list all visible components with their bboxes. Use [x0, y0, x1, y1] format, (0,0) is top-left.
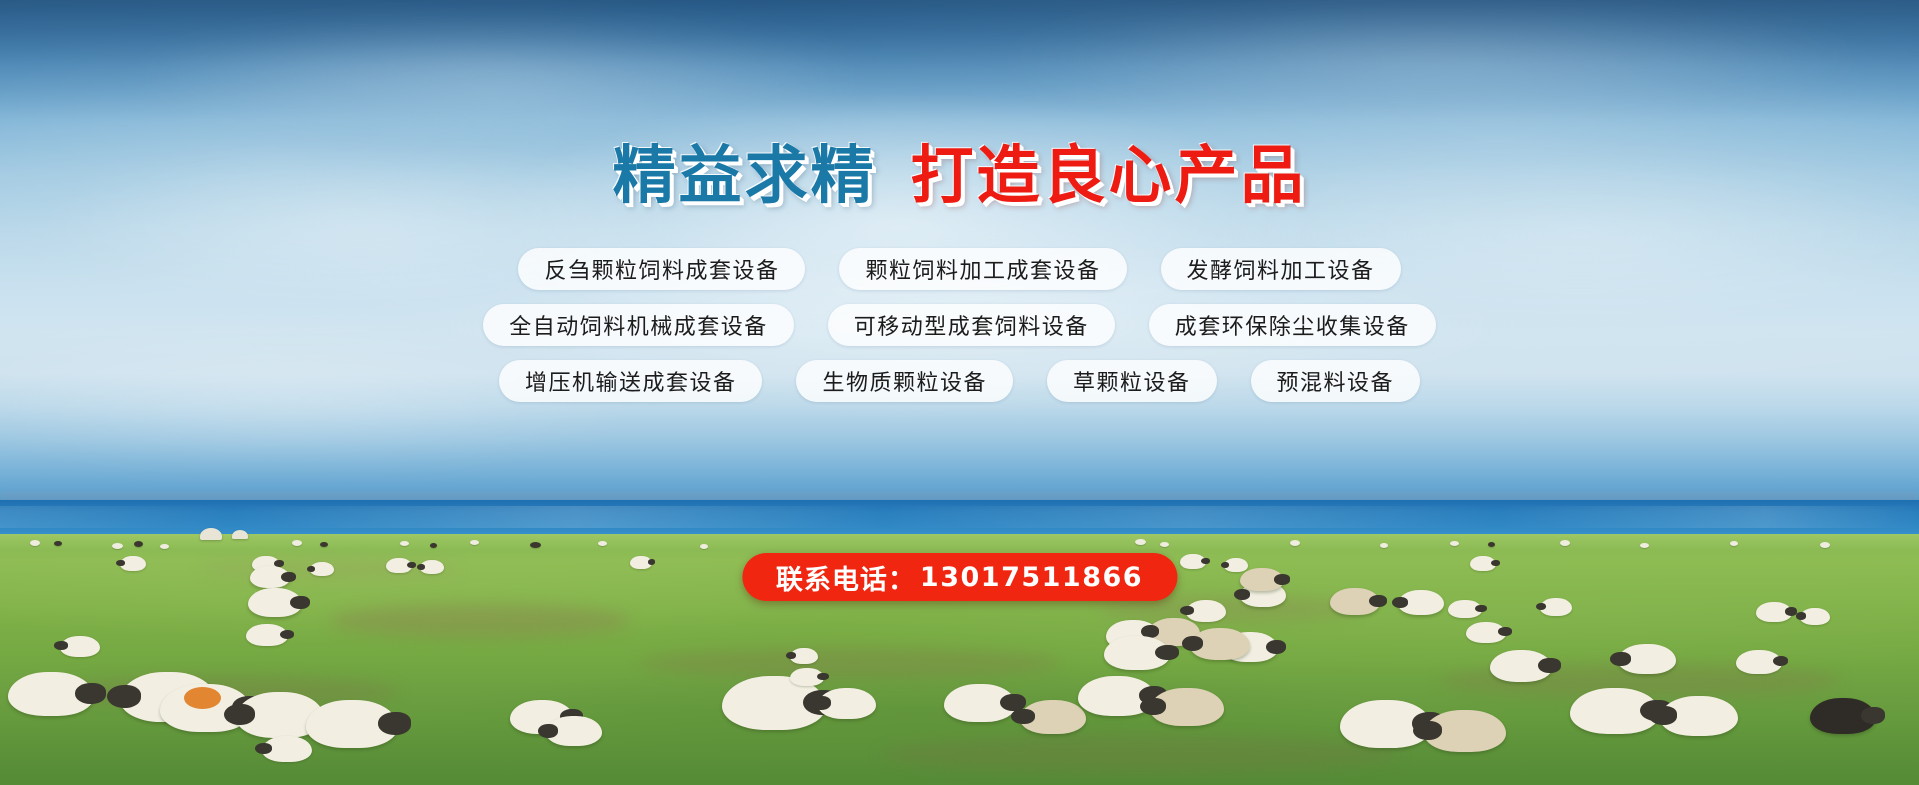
distant-sheep	[1640, 543, 1649, 548]
distant-sheep	[470, 540, 479, 545]
pill-complete-environmental-dust-collection-equipment[interactable]: 成套环保除尘收集设备	[1149, 304, 1436, 346]
distant-sheep	[292, 540, 302, 546]
sheep	[790, 648, 818, 664]
pill-booster-conveying-complete-equipment[interactable]: 增压机输送成套设备	[499, 360, 763, 402]
distant-sheep	[430, 543, 437, 548]
distant-sheep	[530, 542, 541, 548]
sheep	[1466, 622, 1506, 643]
distant-sheep	[30, 540, 40, 546]
headline-blue-text: 精益求精	[613, 144, 877, 207]
sheep	[1150, 688, 1224, 726]
sheep	[1104, 636, 1170, 670]
contact-label: 联系电话：	[776, 558, 916, 597]
sheep	[120, 556, 146, 571]
sheep	[1398, 590, 1444, 615]
distant-sheep	[1160, 542, 1169, 547]
pill-premix-equipment[interactable]: 预混料设备	[1251, 360, 1421, 402]
sheep	[1736, 650, 1782, 674]
promo-banner: 精益求精打造良心产品 反刍颗粒饲料成套设备 颗粒饲料加工成套设备 发酵饲料加工设…	[0, 0, 1919, 785]
sheep	[1756, 602, 1792, 622]
contact-phone-badge[interactable]: 联系电话：13017511866	[742, 553, 1177, 601]
distant-sheep	[400, 541, 409, 546]
distant-sheep	[160, 544, 169, 549]
pill-fully-automatic-feed-machinery-complete-equipment[interactable]: 全自动饲料机械成套设备	[483, 304, 794, 346]
sheep	[790, 668, 824, 686]
sheep	[386, 558, 412, 573]
distant-sheep	[134, 541, 143, 547]
sheep	[306, 700, 398, 748]
pill-fermented-feed-processing-equipment[interactable]: 发酵饲料加工设备	[1161, 248, 1401, 290]
headline-red-text: 打造良心产品	[911, 144, 1307, 207]
distant-sheep	[598, 541, 607, 546]
sheep	[1020, 700, 1086, 734]
pill-row-2: 全自动饲料机械成套设备 可移动型成套饲料设备 成套环保除尘收集设备	[0, 304, 1919, 346]
distant-yurt	[232, 530, 248, 539]
sheep	[1800, 608, 1830, 625]
pill-pellet-feed-processing-complete-equipment[interactable]: 颗粒饲料加工成套设备	[839, 248, 1126, 290]
distant-sheep	[1730, 541, 1738, 546]
distant-sheep	[112, 543, 123, 549]
sheep	[1470, 556, 1496, 571]
sheep	[246, 624, 288, 646]
pill-ruminant-pellet-feed-complete-equipment[interactable]: 反刍颗粒饲料成套设备	[518, 248, 805, 290]
sheep	[248, 588, 302, 617]
banner-headline: 精益求精打造良心产品	[0, 140, 1919, 207]
distant-sheep	[1450, 541, 1459, 546]
sheep	[1224, 558, 1248, 572]
sheep	[60, 636, 100, 657]
distant-sheep	[54, 541, 62, 546]
sheep	[1448, 600, 1482, 618]
sheep	[1810, 698, 1876, 734]
sheep	[1540, 598, 1572, 616]
contact-phone-number: 13017511866	[920, 562, 1143, 593]
sheep	[1570, 688, 1660, 734]
sheep	[1424, 710, 1506, 752]
pill-row-1: 反刍颗粒饲料成套设备 颗粒饲料加工成套设备 发酵饲料加工设备	[0, 248, 1919, 290]
distant-yurt	[200, 528, 222, 540]
distant-sheep	[1820, 542, 1830, 548]
sheep	[250, 566, 290, 588]
distant-sheep	[1560, 540, 1570, 546]
distant-sheep	[1135, 539, 1146, 545]
pill-grass-pellet-equipment[interactable]: 草颗粒设备	[1047, 360, 1217, 402]
sheep	[1180, 554, 1206, 569]
product-category-pills: 反刍颗粒饲料成套设备 颗粒饲料加工成套设备 发酵饲料加工设备 全自动饲料机械成套…	[0, 248, 1919, 416]
sheep	[1660, 696, 1738, 736]
sheep	[1186, 600, 1226, 622]
distant-sheep	[320, 542, 328, 547]
sheep	[1190, 628, 1250, 660]
sheep	[8, 672, 94, 716]
sheep	[1490, 650, 1552, 682]
distant-sheep	[1290, 540, 1300, 546]
sheep	[1240, 568, 1284, 591]
sheep	[420, 560, 444, 574]
sheep	[1330, 588, 1380, 615]
sheep-lamb	[546, 716, 602, 746]
sheep	[944, 684, 1016, 722]
distant-sheep	[700, 544, 708, 549]
sheep	[310, 562, 334, 576]
sheep	[630, 556, 652, 569]
sheep-lamb	[818, 688, 876, 719]
sheep-lamb	[262, 736, 312, 762]
pill-movable-complete-feed-equipment[interactable]: 可移动型成套饲料设备	[828, 304, 1115, 346]
distant-sheep	[1488, 542, 1495, 547]
pill-row-3: 增压机输送成套设备 生物质颗粒设备 草颗粒设备 预混料设备	[0, 360, 1919, 402]
pill-biomass-pellet-equipment[interactable]: 生物质颗粒设备	[796, 360, 1013, 402]
distant-sheep	[1380, 543, 1388, 548]
sheep	[1618, 644, 1676, 674]
